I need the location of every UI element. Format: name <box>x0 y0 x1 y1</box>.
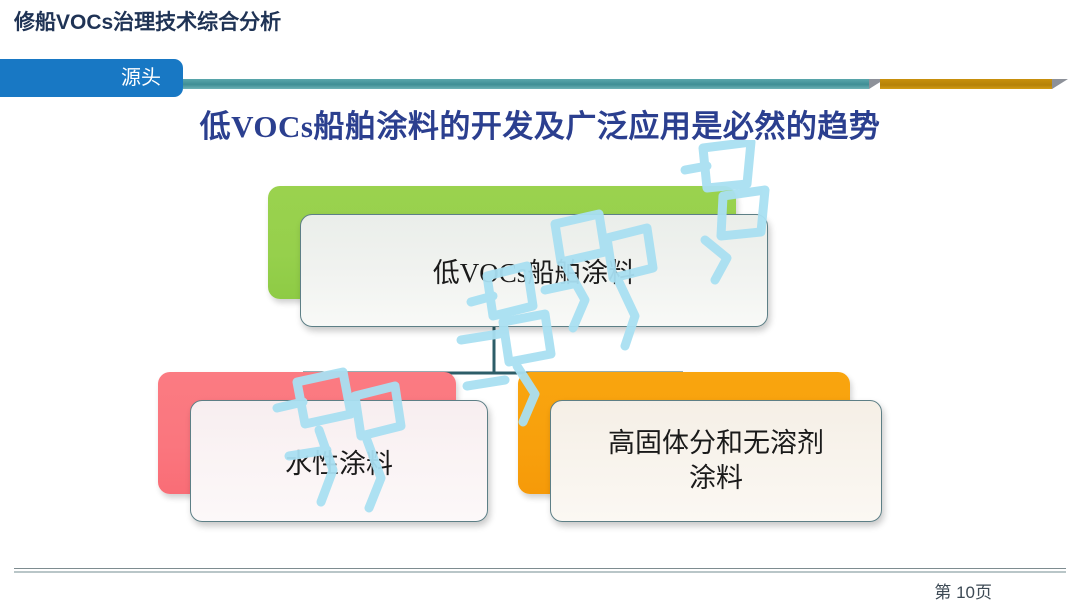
node-high-solid-solventless-coatings[interactable]: 高固体分和无溶剂 涂料 <box>550 400 882 522</box>
footer-divider <box>14 568 1066 572</box>
section-tab-label: 源头 <box>121 68 161 88</box>
section-tab-source[interactable]: 源头 <box>0 59 183 97</box>
footer-page-number: 第 10页 <box>934 578 992 603</box>
decorative-teal-bar <box>183 79 883 89</box>
slide-header-title: 修船VOCs治理技术综合分析 <box>14 6 281 36</box>
node-root-low-voc-coatings[interactable]: 低VOCs船舶涂料 <box>300 214 768 327</box>
node-high-solid-line2: 涂料 <box>689 463 743 493</box>
decorative-gold-bar-tip <box>1052 79 1068 89</box>
node-high-solid-line1: 高固体分和无溶剂 <box>608 428 824 458</box>
node-waterborne-coatings[interactable]: 水性涂料 <box>190 400 488 522</box>
slide-title: 低VOCs船舶涂料的开发及广泛应用是必然的趋势 <box>0 101 1080 146</box>
decorative-gold-bar <box>880 79 1066 89</box>
slide-canvas: 修船VOCs治理技术综合分析 源头 低VOCs船舶涂料的开发及广泛应用是必然的趋… <box>0 0 1080 608</box>
